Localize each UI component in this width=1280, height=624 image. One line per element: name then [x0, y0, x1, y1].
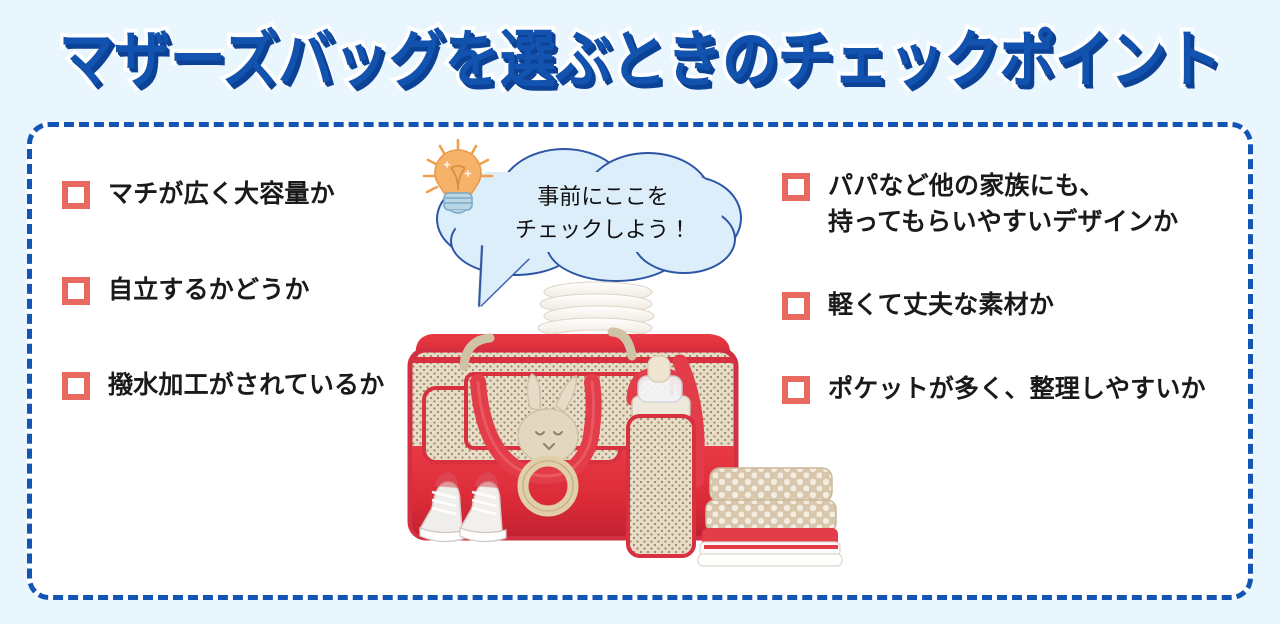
- checkbox-icon[interactable]: [62, 277, 90, 305]
- checklist-item-family-friendly-design[interactable]: パパなど他の家族にも、 持ってもらいやすいデザインか: [782, 169, 1242, 240]
- checklist-item-label: 自立するかどうか: [108, 273, 310, 309]
- product-photo: [380, 270, 860, 578]
- lightbulb-icon: [420, 138, 496, 222]
- bottle-holder: [628, 356, 694, 556]
- checklist-item-label: 撥水加工がされているか: [108, 368, 384, 404]
- folded-cloths: [698, 468, 842, 566]
- page-title: マザーズバッグを選ぶときのチェックポイント: [59, 20, 1222, 102]
- checkbox-icon[interactable]: [62, 372, 90, 400]
- checklist-item-label: 軽くて丈夫な素材か: [828, 288, 1054, 324]
- checklist-item-label: パパなど他の家族にも、 持ってもらいやすいデザインか: [828, 169, 1178, 240]
- checklist-item-label: マチが広く大容量か: [108, 177, 335, 213]
- page-title-wrap: マザーズバッグを選ぶときのチェックポイント: [0, 24, 1280, 104]
- checklist-item-label: ポケットが多く、整理しやすいか: [828, 372, 1206, 408]
- checkbox-icon[interactable]: [62, 181, 90, 209]
- infographic-page: マザーズバッグを選ぶときのチェックポイント マチが広く大容量か 自立するかどうか…: [0, 0, 1280, 624]
- checkbox-icon[interactable]: [782, 173, 810, 201]
- callout-text: 事前にここを チェックしよう！: [478, 180, 728, 247]
